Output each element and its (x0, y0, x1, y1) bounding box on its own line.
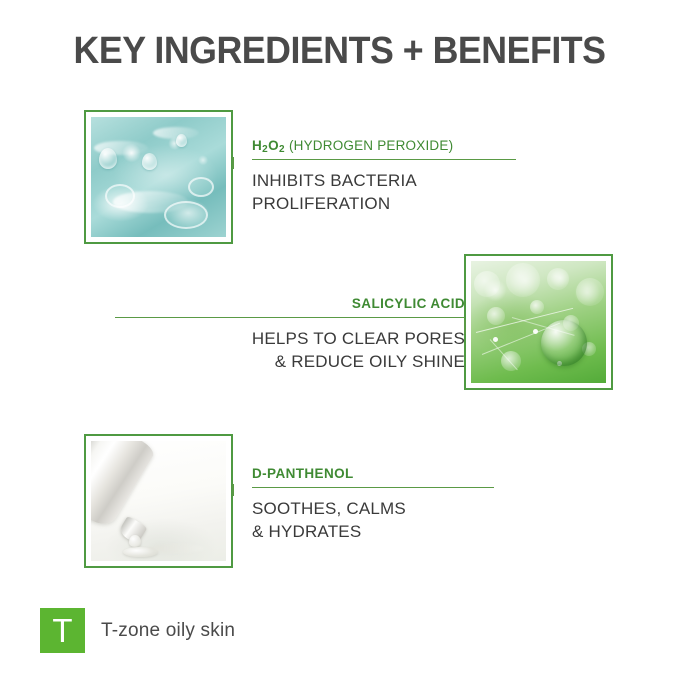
ingredient-name-h2o2-sub1: 2 (262, 144, 268, 155)
t-zone-badge: T (40, 608, 85, 653)
leaf-droplets-image (471, 261, 606, 383)
ingredient-text-h2o2: H2O2 (HYDROGEN PEROXIDE) INHIBITS BACTER… (252, 138, 516, 215)
water-splash-image (91, 117, 226, 237)
page-title: KEY INGREDIENTS + BENEFITS (20, 30, 658, 73)
footer-skin-type: T T-zone oily skin (40, 608, 235, 653)
ingredient-rule-2 (115, 317, 465, 318)
ingredient-text-d-panthenol: D-PANTHENOL SOOTHES, CALMS & HYDRATES (252, 466, 494, 543)
ingredient-description-d-panthenol: SOOTHES, CALMS & HYDRATES (252, 498, 494, 543)
ingredient-rule-3 (252, 487, 494, 488)
t-zone-label: T-zone oily skin (101, 620, 235, 642)
connector-tick-1 (232, 157, 234, 169)
ingredient-rule-1 (252, 159, 516, 160)
ingredient-name-h2o2-mid: O (268, 138, 279, 153)
ingredient-photo-water-splash (84, 110, 233, 244)
ingredient-name-d-panthenol: D-PANTHENOL (252, 466, 494, 481)
connector-tick-3 (232, 484, 234, 496)
ingredient-name-h2o2: H2O2 (HYDROGEN PEROXIDE) (252, 138, 516, 153)
ingredient-name-h2o2-sub2: 2 (279, 144, 285, 155)
ingredient-description-salicylic-acid: HELPS TO CLEAR PORES & REDUCE OILY SHINE (115, 328, 465, 373)
ingredient-description-h2o2: INHIBITS BACTERIA PROLIFERATION (252, 170, 516, 215)
ingredient-text-salicylic-acid: SALICYLIC ACID HELPS TO CLEAR PORES & RE… (115, 296, 465, 373)
ingredient-name-h2o2-paren: (HYDROGEN PEROXIDE) (285, 138, 453, 153)
ingredient-photo-leaf-droplets (464, 254, 613, 390)
ingredient-name-salicylic-acid: SALICYLIC ACID (115, 296, 465, 311)
ingredient-name-h2o2-bold: H (252, 138, 262, 153)
glass-dropper-image (91, 441, 226, 561)
ingredient-photo-glass-dropper (84, 434, 233, 568)
